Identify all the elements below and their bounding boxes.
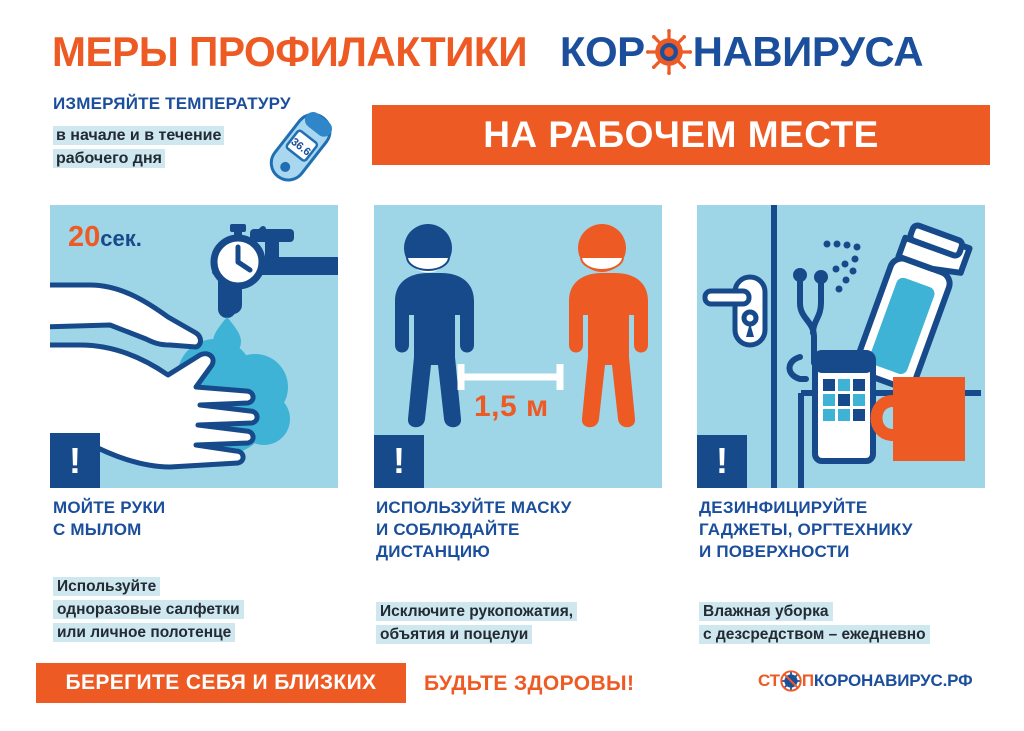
caption-note: Влажная уборка с дезсредством – ежедневн…: [699, 577, 999, 646]
caption-note: Исключите рукопожатия, объятия и поцелуи: [376, 577, 676, 646]
caption-heading: МОЙТЕ РУКИ С МЫЛОМ: [53, 497, 353, 541]
seconds-number: 20: [68, 221, 100, 253]
virus-crossed-out-icon: [780, 670, 802, 692]
caption-heading: ДЕЗИНФИЦИРУЙТЕ ГАДЖЕТЫ, ОРГТЕХНИКУ И ПОВ…: [699, 497, 999, 563]
exclamation-mark: !: [69, 443, 81, 479]
caption-note: Используйте одноразовые салфетки или лич…: [53, 552, 353, 644]
caption-heading: ИСПОЛЬЗУЙТЕ МАСКУ И СОБЛЮДАЙТЕ ДИСТАНЦИЮ: [376, 497, 676, 563]
footer-slogan-text: БЕРЕГИТЕ СЕБЯ И БЛИЗКИХ: [65, 671, 376, 695]
measure-bar-icon: [461, 364, 560, 390]
stopwatch-icon: [205, 223, 271, 289]
title-navy-suffix: НАВИРУСА: [693, 28, 923, 76]
title-navy-prefix: КОР: [560, 28, 645, 76]
distance-label: 1,5 м: [474, 390, 549, 424]
smartphone-icon: [815, 353, 873, 461]
caption-note-text: Влажная уборка с дезсредством – ежедневн…: [699, 602, 930, 644]
hand-upper-icon: [50, 285, 201, 347]
footer-slogan-bar: БЕРЕГИТЕ СЕБЯ И БЛИЗКИХ: [36, 663, 406, 703]
coronavirus-icon: [646, 29, 692, 75]
attention-badge: !: [697, 435, 747, 488]
caption-note-text: Используйте одноразовые салфетки или лич…: [53, 577, 244, 642]
logo-domain: КОРОНАВИРУС.РФ: [814, 671, 973, 691]
temperature-note-line-1: в начале и в течение: [53, 126, 224, 145]
page-title: МЕРЫ ПРОФИЛАКТИКИ КОР: [52, 28, 923, 76]
attention-badge: !: [50, 435, 100, 488]
logo-middle: П: [802, 671, 814, 691]
twenty-seconds-label: 20сек.: [68, 223, 142, 252]
caption-wash-hands: МОЙТЕ РУКИ С МЫЛОМ Используйте одноразов…: [53, 497, 353, 644]
attention-badge: !: [374, 435, 424, 488]
door-edge: [771, 205, 777, 488]
exclamation-mark: !: [716, 443, 728, 479]
mug-icon: [877, 377, 966, 461]
footer-health-text: БУДЬТЕ ЗДОРОВЫ!: [424, 672, 634, 696]
seconds-unit: сек.: [100, 226, 142, 251]
panel-disinfect-surfaces: !: [697, 205, 985, 488]
panel-mask-distance: 1,5 м !: [374, 205, 662, 488]
door-handle-icon: [705, 277, 765, 345]
temperature-note: в начале и в течение рабочего дня: [53, 124, 253, 170]
caption-mask-distance: ИСПОЛЬЗУЙТЕ МАСКУ И СОБЛЮДАЙТЕ ДИСТАНЦИЮ…: [376, 497, 676, 646]
panel-wash-hands: 20сек. !: [50, 205, 338, 488]
person-orange-masked-icon: [569, 224, 648, 427]
spray-mist-icon: [824, 241, 861, 293]
workplace-banner: НА РАБОЧЕМ МЕСТЕ: [372, 105, 990, 165]
caption-disinfect: ДЕЗИНФИЦИРУЙТЕ ГАДЖЕТЫ, ОРГТЕХНИКУ И ПОВ…: [699, 497, 999, 646]
thermometer-icon: 36.6: [255, 108, 345, 188]
logo-prefix: СТ: [758, 671, 780, 691]
exclamation-mark: !: [393, 443, 405, 479]
banner-text: НА РАБОЧЕМ МЕСТЕ: [483, 114, 879, 156]
caption-note-text: Исключите рукопожатия, объятия и поцелуи: [376, 602, 577, 644]
temperature-note-line-2: рабочего дня: [53, 149, 165, 168]
title-orange-part: МЕРЫ ПРОФИЛАКТИКИ: [52, 28, 527, 76]
person-navy-masked-icon: [395, 224, 474, 427]
stopcoronavirus-logo[interactable]: СТ П КОРОНАВИРУС.РФ: [758, 670, 972, 692]
